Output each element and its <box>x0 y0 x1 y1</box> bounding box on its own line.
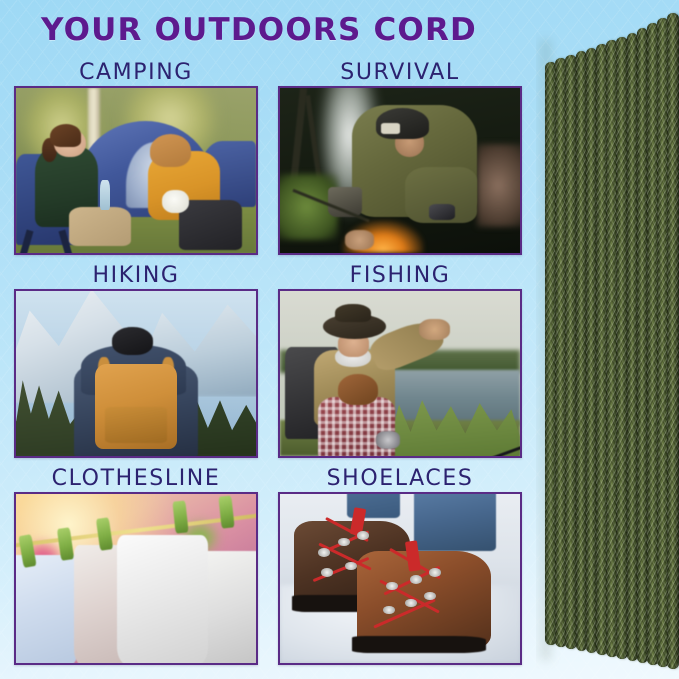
use-label-camping: CAMPING <box>14 60 258 85</box>
cord-strand <box>667 13 679 669</box>
photo-survival <box>280 88 520 253</box>
use-photo-frame-shoelaces <box>278 492 522 665</box>
photo-clothesline <box>16 494 256 663</box>
use-card-fishing[interactable]: FISHING <box>278 263 522 458</box>
infographic-canvas: YOUR OUTDOORS CORD CAMPING <box>0 0 679 679</box>
photo-camping <box>16 88 256 253</box>
use-card-shoelaces[interactable]: SHOELACES <box>278 466 522 665</box>
use-photo-frame-fishing <box>278 289 522 458</box>
page-title: YOUR OUTDOORS CORD <box>0 12 518 48</box>
photo-hiking <box>16 291 256 456</box>
use-card-clothesline[interactable]: CLOTHESLINE <box>14 466 258 665</box>
use-label-fishing: FISHING <box>278 263 522 288</box>
product-panel <box>536 0 679 679</box>
use-card-hiking[interactable]: HIKING <box>14 263 258 458</box>
uses-panel: YOUR OUTDOORS CORD CAMPING <box>0 0 536 679</box>
paracord-hank-image <box>536 0 679 679</box>
use-photo-frame-clothesline <box>14 492 258 665</box>
use-label-hiking: HIKING <box>14 263 258 288</box>
use-label-clothesline: CLOTHESLINE <box>14 466 258 491</box>
use-card-camping[interactable]: CAMPING <box>14 60 258 255</box>
photo-shoelaces <box>280 494 520 663</box>
use-label-shoelaces: SHOELACES <box>278 466 522 491</box>
use-photo-frame-survival <box>278 86 522 255</box>
use-label-survival: SURVIVAL <box>278 60 522 85</box>
cord-shadow <box>536 40 550 660</box>
use-card-survival[interactable]: SURVIVAL <box>278 60 522 255</box>
use-photo-frame-camping <box>14 86 258 255</box>
photo-fishing <box>280 291 520 456</box>
use-photo-frame-hiking <box>14 289 258 458</box>
